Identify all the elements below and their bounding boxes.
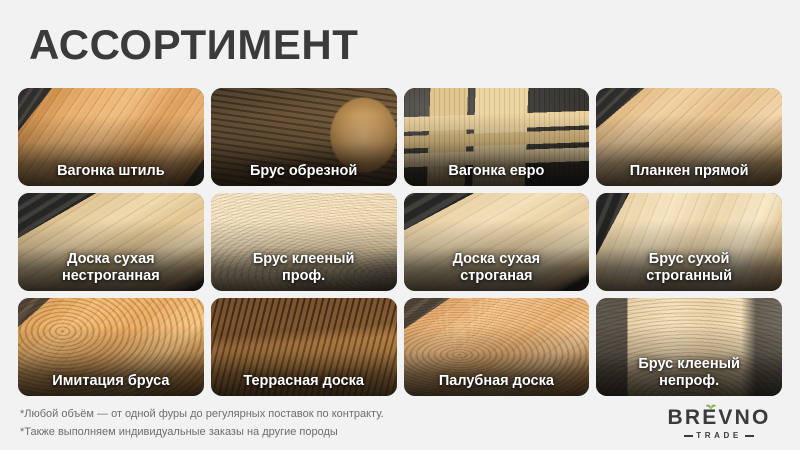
product-card[interactable]: Доска сухая нестроганная	[18, 193, 204, 291]
logo-sub-text: TRADE	[696, 431, 742, 441]
logo-rule-left	[684, 435, 693, 437]
brand-logo: BREVNO TRADE	[660, 406, 778, 441]
product-label: Доска сухая нестроганная	[23, 251, 199, 284]
product-card[interactable]: Имитация бруса	[18, 298, 204, 396]
product-label: Имитация бруса	[23, 373, 199, 390]
product-card[interactable]: Брус клееный непроф.	[596, 298, 782, 396]
footnote-volume: *Любой объём — от одной фуры до регулярн…	[20, 405, 384, 423]
product-label: Брус клееный непроф.	[601, 356, 777, 389]
product-card[interactable]: Террасная доска	[211, 298, 397, 396]
product-label: Террасная доска	[216, 373, 392, 390]
product-label: Палубная доска	[409, 373, 585, 390]
logo-rule-right	[745, 435, 754, 437]
product-label: Планкен прямой	[601, 163, 777, 180]
product-label: Брус обрезной	[216, 163, 392, 180]
product-card[interactable]: Палубная доска	[404, 298, 590, 396]
product-grid: Вагонка штиль Брус обрезной Вагонка евро…	[18, 88, 782, 396]
product-label: Брус сухой строганный	[601, 251, 777, 284]
product-card[interactable]: Планкен прямой	[596, 88, 782, 186]
product-card[interactable]: Брус клееный проф.	[211, 193, 397, 291]
product-card[interactable]: Вагонка штиль	[18, 88, 204, 186]
product-card[interactable]: Доска сухая строганая	[404, 193, 590, 291]
page-title: АССОРТИМЕНТ	[29, 22, 358, 68]
product-label: Доска сухая строганая	[409, 251, 585, 284]
logo-subtitle: TRADE	[660, 431, 778, 441]
product-card[interactable]: Брус сухой строганный	[596, 193, 782, 291]
product-label: Вагонка евро	[409, 163, 585, 180]
product-label: Брус клееный проф.	[216, 251, 392, 284]
product-card[interactable]: Вагонка евро	[404, 88, 590, 186]
footnotes: *Любой объём — от одной фуры до регулярн…	[20, 405, 384, 441]
product-card[interactable]: Брус обрезной	[211, 88, 397, 186]
product-label: Вагонка штиль	[23, 163, 199, 180]
logo-word-text: BREVNO	[667, 406, 770, 429]
logo-wordmark: BREVNO	[660, 406, 778, 429]
footnote-custom-orders: *Также выполняем индивидуальные заказы н…	[20, 423, 384, 441]
leaf-sprout-icon	[705, 403, 717, 410]
